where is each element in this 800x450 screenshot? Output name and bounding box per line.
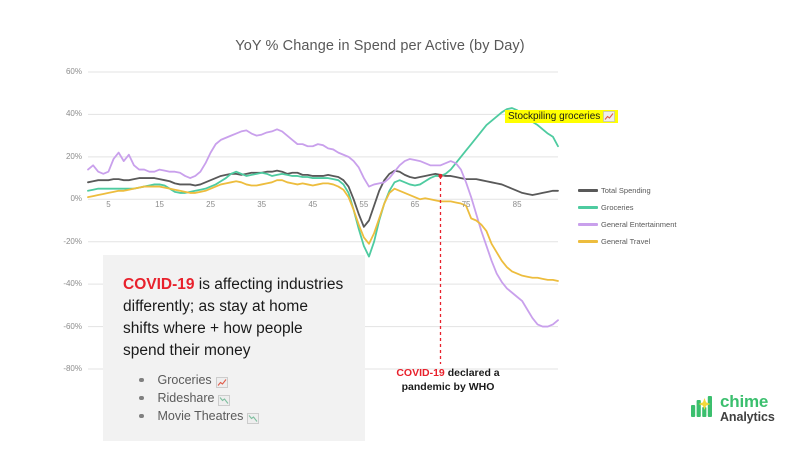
legend-swatch — [578, 189, 598, 192]
y-axis-tick: 0% — [52, 194, 82, 203]
who-annotation-line2: pandemic by WHO — [402, 381, 495, 393]
who-annotation-rest: declared a — [445, 367, 500, 379]
stockpiling-callout: Stockpiling groceries — [505, 110, 618, 123]
chart-legend: Total SpendingGroceriesGeneral Entertain… — [578, 182, 676, 250]
list-item: Groceries — [123, 371, 345, 389]
logo-bars-icon — [690, 393, 716, 424]
chart-down-icon — [218, 393, 230, 404]
x-axis-tick: 45 — [301, 200, 325, 209]
bullet-dot-icon — [139, 414, 144, 419]
insight-covid-emphasis: COVID-19 — [123, 276, 195, 293]
legend-label: General Travel — [601, 237, 650, 246]
insight-headline: COVID-19 is affecting industries differe… — [123, 274, 345, 362]
who-annotation: COVID-19 declared a pandemic by WHO — [378, 366, 518, 394]
legend-item[interactable]: General Travel — [578, 233, 676, 250]
insight-bullet-list: Groceries Rideshare Movie Theatres — [123, 371, 345, 425]
y-axis-tick: -60% — [52, 322, 82, 331]
chart-up-icon — [603, 111, 615, 122]
logo-brand-text: chime — [720, 393, 775, 410]
chart-up-icon — [216, 375, 228, 386]
x-axis-tick: 5 — [96, 200, 120, 209]
logo-sub-text: Analytics — [720, 411, 775, 424]
legend-swatch — [578, 223, 598, 226]
list-item: Rideshare — [123, 389, 345, 407]
legend-label: Groceries — [601, 203, 634, 212]
x-axis-tick: 55 — [352, 200, 376, 209]
list-item: Movie Theatres — [123, 407, 345, 425]
y-axis-tick: 20% — [52, 152, 82, 161]
x-axis-tick: 15 — [148, 200, 172, 209]
legend-label: Total Spending — [601, 186, 651, 195]
bullet-dot-icon — [139, 378, 144, 383]
chart-down-icon — [247, 411, 259, 422]
y-axis-tick: 40% — [52, 109, 82, 118]
bullet-dot-icon — [139, 396, 144, 401]
legend-item[interactable]: Groceries — [578, 199, 676, 216]
bullet-label: Groceries — [158, 371, 212, 389]
x-axis-tick: 35 — [250, 200, 274, 209]
bullet-label: Rideshare — [158, 389, 215, 407]
who-covid-emphasis: COVID-19 — [396, 367, 444, 379]
x-axis-tick: 65 — [403, 200, 427, 209]
x-axis-tick: 25 — [199, 200, 223, 209]
y-axis-tick: 60% — [52, 67, 82, 76]
insight-text-box: COVID-19 is affecting industries differe… — [103, 255, 365, 441]
y-axis-tick: -40% — [52, 279, 82, 288]
bullet-label: Movie Theatres — [158, 407, 244, 425]
legend-swatch — [578, 240, 598, 243]
legend-label: General Entertainment — [601, 220, 676, 229]
x-axis-tick: 85 — [505, 200, 529, 209]
y-axis-tick: -20% — [52, 237, 82, 246]
legend-item[interactable]: Total Spending — [578, 182, 676, 199]
legend-swatch — [578, 206, 598, 209]
y-axis-tick: -80% — [52, 364, 82, 373]
x-axis-tick: 75 — [454, 200, 478, 209]
chime-analytics-logo: chime Analytics — [690, 393, 775, 424]
legend-item[interactable]: General Entertainment — [578, 216, 676, 233]
stockpiling-callout-label: Stockpiling groceries — [508, 111, 600, 122]
